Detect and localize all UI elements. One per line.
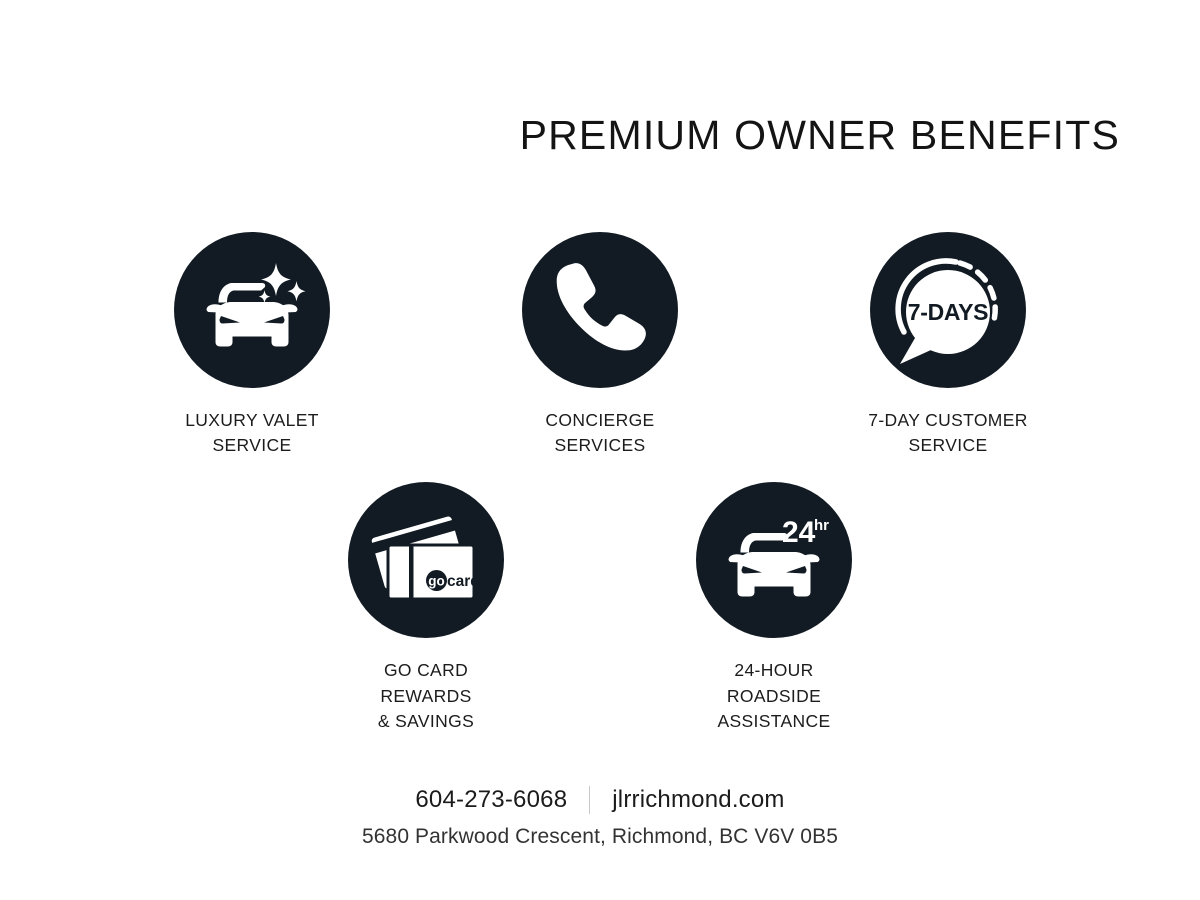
footer-divider	[589, 786, 590, 814]
benefits-grid: LUXURY VALET SERVICE CONCIERGE SERVICES	[0, 232, 1200, 734]
benefit-go-card[interactable]: go card GO CARD REWARDS & SAVINGS	[338, 482, 514, 734]
footer-website[interactable]: jlrrichmond.com	[612, 786, 784, 814]
speech-bubble-7-days-icon: 7-DAYS	[884, 246, 1012, 374]
page-title: PREMIUM OWNER BENEFITS	[0, 111, 1120, 160]
benefit-7day-service[interactable]: 7-DAYS 7-DAY CUSTOMER SERVICE	[860, 232, 1036, 458]
car-24hr-icon: 24 hr	[718, 510, 830, 610]
poster-canvas: PREMIUM OWNER BENEFITS	[0, 0, 1200, 900]
icon-text-7-days: 7-DAYS	[908, 299, 988, 325]
footer-contact-row: 604-273-6068 jlrrichmond.com	[0, 786, 1200, 814]
benefit-luxury-valet[interactable]: LUXURY VALET SERVICE	[164, 232, 340, 458]
benefits-row-1: LUXURY VALET SERVICE CONCIERGE SERVICES	[0, 232, 1200, 458]
sparkling-car-icon	[196, 260, 308, 360]
icon-text-24: 24	[782, 516, 816, 549]
icon-text-go: go	[428, 574, 445, 589]
benefit-concierge[interactable]: CONCIERGE SERVICES	[512, 232, 688, 458]
footer-address: 5680 Parkwood Crescent, Richmond, BC V6V…	[0, 825, 1200, 849]
footer: 604-273-6068 jlrrichmond.com 5680 Parkwo…	[0, 786, 1200, 849]
footer-phone[interactable]: 604-273-6068	[415, 786, 567, 814]
badge-circle: go card	[348, 482, 504, 638]
badge-circle	[174, 232, 330, 388]
icon-text-hr: hr	[814, 517, 829, 534]
go-card-icon: go card	[370, 511, 482, 609]
icon-text-card: card	[447, 573, 480, 590]
badge-circle	[522, 232, 678, 388]
benefit-label: 7-DAY CUSTOMER SERVICE	[860, 408, 1036, 458]
badge-circle: 24 hr	[696, 482, 852, 638]
badge-circle: 7-DAYS	[870, 232, 1026, 388]
benefit-label: 24-HOUR ROADSIDE ASSISTANCE	[686, 658, 862, 734]
benefit-label: CONCIERGE SERVICES	[512, 408, 688, 458]
phone-handset-icon	[548, 258, 652, 362]
benefit-label: LUXURY VALET SERVICE	[164, 408, 340, 458]
benefit-roadside-assistance[interactable]: 24 hr 24-HOUR ROADSIDE ASSISTANCE	[686, 482, 862, 734]
benefit-label: GO CARD REWARDS & SAVINGS	[338, 658, 514, 734]
benefits-row-2: go card GO CARD REWARDS & SAVINGS	[0, 482, 1200, 734]
